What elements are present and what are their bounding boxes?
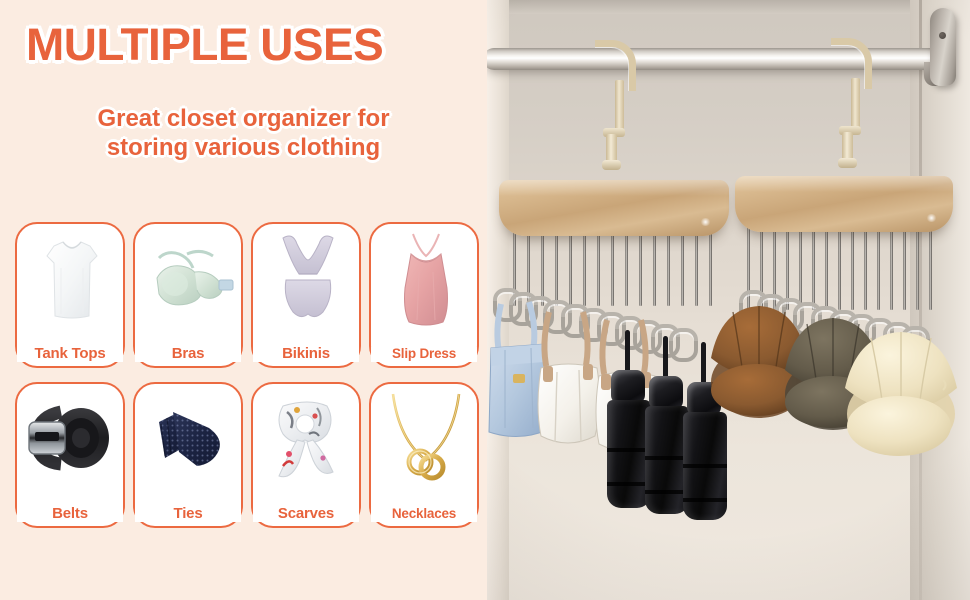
hook-cap	[838, 158, 857, 168]
umbrella-band	[683, 464, 727, 468]
category-card-ties[interactable]: Ties	[133, 382, 243, 528]
wood-highlight	[926, 214, 937, 222]
category-label: Scarves	[253, 506, 359, 523]
slip-dress-icon	[371, 228, 477, 332]
tie-icon	[135, 388, 241, 492]
product-photo-panel	[487, 0, 970, 600]
rod-wall-bracket	[930, 8, 956, 86]
category-card-tank-tops[interactable]: Tank Tops	[15, 222, 125, 368]
organizer-left-wood-bar	[499, 180, 729, 236]
category-card-bras[interactable]: Bras	[133, 222, 243, 368]
umbrella-band	[683, 498, 727, 502]
category-card-scarves[interactable]: Scarves	[251, 382, 361, 528]
tank-top-icon	[17, 228, 123, 332]
closet-ceiling	[487, 0, 970, 14]
gold-hanger-hook-left	[595, 40, 629, 158]
page-title: MULTIPLE USES	[26, 22, 465, 67]
category-label: Tank Tops	[17, 346, 123, 363]
hook-stem	[615, 80, 624, 134]
s-hook	[667, 328, 693, 358]
category-card-necklaces[interactable]: Necklaces	[369, 382, 479, 528]
cap-cream	[835, 322, 970, 492]
category-card-bikinis[interactable]: Bikinis	[251, 222, 361, 368]
category-label: Necklaces	[371, 507, 477, 522]
subtitle-line-1: Great closet organizer for	[0, 104, 487, 133]
hook-cap	[602, 160, 621, 170]
umbrella-handle	[649, 376, 683, 410]
category-label: Belts	[17, 506, 123, 523]
category-card-belts[interactable]: Belts	[15, 382, 125, 528]
wood-highlight	[700, 218, 711, 226]
umbrella-handle	[611, 370, 645, 404]
organizer-right-wood-bar	[735, 176, 953, 232]
scarf-icon	[253, 388, 359, 492]
bikini-icon	[253, 228, 359, 332]
belt-icon	[17, 388, 123, 492]
category-card-slip-dress[interactable]: Slip Dress	[369, 222, 479, 368]
bra-icon	[135, 228, 241, 332]
necklace-icon	[371, 388, 477, 492]
category-label: Bikinis	[253, 346, 359, 363]
closet-rod	[487, 48, 943, 70]
category-label: Bras	[135, 346, 241, 363]
category-grid: Tank Tops B	[15, 222, 475, 528]
subtitle-line-2: storing various clothing	[0, 133, 487, 162]
category-label: Slip Dress	[371, 347, 477, 362]
gold-hanger-hook-right	[831, 38, 865, 156]
hook-stem	[851, 78, 860, 132]
infographic-stage: MULTIPLE USES Great closet organizer for…	[0, 0, 970, 600]
category-label: Ties	[135, 506, 241, 523]
page-subtitle: Great closet organizer for storing vario…	[0, 104, 487, 163]
left-info-panel: MULTIPLE USES Great closet organizer for…	[0, 0, 487, 600]
